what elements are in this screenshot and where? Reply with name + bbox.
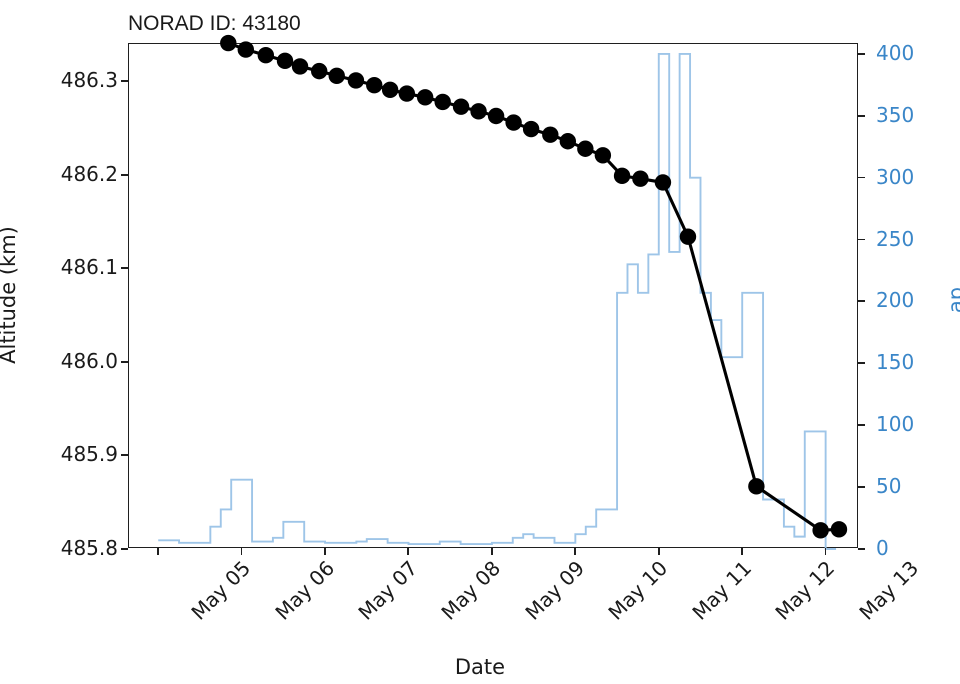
y-axis-right-tick <box>858 177 865 179</box>
y-axis-right-tick-label: 400 <box>876 41 914 65</box>
x-axis-tick <box>741 548 743 555</box>
data-point-marker <box>614 168 630 184</box>
data-point-marker <box>748 478 764 494</box>
data-point-marker <box>434 94 450 110</box>
y-axis-right-tick <box>858 53 865 55</box>
x-axis-tick-label: May 05 <box>187 556 256 625</box>
y-axis-left-tick <box>121 361 128 363</box>
data-point-marker <box>542 127 558 143</box>
y-axis-left-tick <box>121 267 128 269</box>
x-axis-tick <box>157 548 159 555</box>
y-axis-right-tick <box>858 548 865 550</box>
x-axis-tick <box>324 548 326 555</box>
y-axis-left-tick-label: 486.0 <box>61 349 118 373</box>
x-axis-tick-label: May 12 <box>771 556 840 625</box>
y-axis-right-tick-label: 300 <box>876 165 914 189</box>
data-point-marker <box>453 98 469 114</box>
data-point-marker <box>238 41 254 57</box>
y-axis-right-tick <box>858 486 865 488</box>
x-axis-tick <box>241 548 243 555</box>
y-axis-left-tick-label: 486.1 <box>61 255 118 279</box>
data-point-marker <box>632 170 648 186</box>
y-axis-left-tick-label: 486.2 <box>61 162 118 186</box>
x-axis-tick-label: May 08 <box>437 556 506 625</box>
page-title: NORAD ID: 43180 <box>128 12 301 36</box>
data-point-marker <box>680 228 696 244</box>
data-point-marker <box>655 174 671 190</box>
y-axis-right-tick <box>858 424 865 426</box>
data-point-marker <box>258 47 274 63</box>
data-point-marker <box>348 72 364 88</box>
y-axis-right-title: ap <box>944 287 960 313</box>
y-axis-right-tick-label: 250 <box>876 227 914 251</box>
data-point-marker <box>831 521 847 537</box>
plot-area <box>128 43 858 548</box>
data-point-marker <box>417 89 433 105</box>
data-point-marker <box>292 58 308 74</box>
x-axis-tick-label: May 07 <box>353 556 422 625</box>
data-point-marker <box>382 82 398 98</box>
y-axis-right-tick-label: 350 <box>876 103 914 127</box>
y-axis-left-tick <box>121 548 128 550</box>
y-axis-right-tick-label: 100 <box>876 412 914 436</box>
data-point-marker <box>523 121 539 137</box>
data-point-marker <box>595 147 611 163</box>
y-axis-left-tick-label: 486.3 <box>61 68 118 92</box>
y-axis-left-tick-label: 485.9 <box>61 442 118 466</box>
x-axis-tick-label: May 09 <box>520 556 589 625</box>
data-point-marker <box>399 85 415 101</box>
data-point-marker <box>220 35 236 51</box>
x-axis-tick <box>407 548 409 555</box>
data-point-marker <box>366 77 382 93</box>
x-axis-tick-label: May 06 <box>270 556 339 625</box>
data-point-marker <box>277 53 293 69</box>
y-axis-left-tick <box>121 80 128 82</box>
data-point-marker <box>812 522 828 538</box>
y-axis-right-tick <box>858 115 865 117</box>
y-axis-left-tick <box>121 174 128 176</box>
data-point-marker <box>577 141 593 157</box>
x-axis-tick <box>491 548 493 555</box>
data-point-marker <box>560 133 576 149</box>
x-axis-tick <box>574 548 576 555</box>
chart-figure: NORAD ID: 43180 486.3486.2486.1486.0485.… <box>0 0 960 684</box>
data-point-marker <box>470 103 486 119</box>
x-axis-tick-label: May 11 <box>687 556 756 625</box>
data-point-marker <box>311 63 327 79</box>
y-axis-left-tick <box>121 454 128 456</box>
y-axis-right-tick <box>858 239 865 241</box>
y-axis-left-title: Altitude (km) <box>0 226 20 364</box>
y-axis-right-tick-label: 50 <box>876 474 901 498</box>
x-axis-tick-label: May 10 <box>604 556 673 625</box>
y-axis-right-tick-label: 200 <box>876 288 914 312</box>
y-axis-right-tick-label: 0 <box>876 536 889 560</box>
y-axis-right-tick <box>858 300 865 302</box>
x-axis-tick <box>658 548 660 555</box>
y-axis-left-tick-label: 485.8 <box>61 536 118 560</box>
data-point-marker <box>488 108 504 124</box>
x-axis-tick <box>825 548 827 555</box>
altitude-line-series <box>129 44 859 549</box>
x-axis-title: Date <box>0 655 960 679</box>
data-point-marker <box>329 68 345 84</box>
y-axis-right-tick-label: 150 <box>876 350 914 374</box>
y-axis-right-tick <box>858 362 865 364</box>
data-point-marker <box>505 114 521 130</box>
